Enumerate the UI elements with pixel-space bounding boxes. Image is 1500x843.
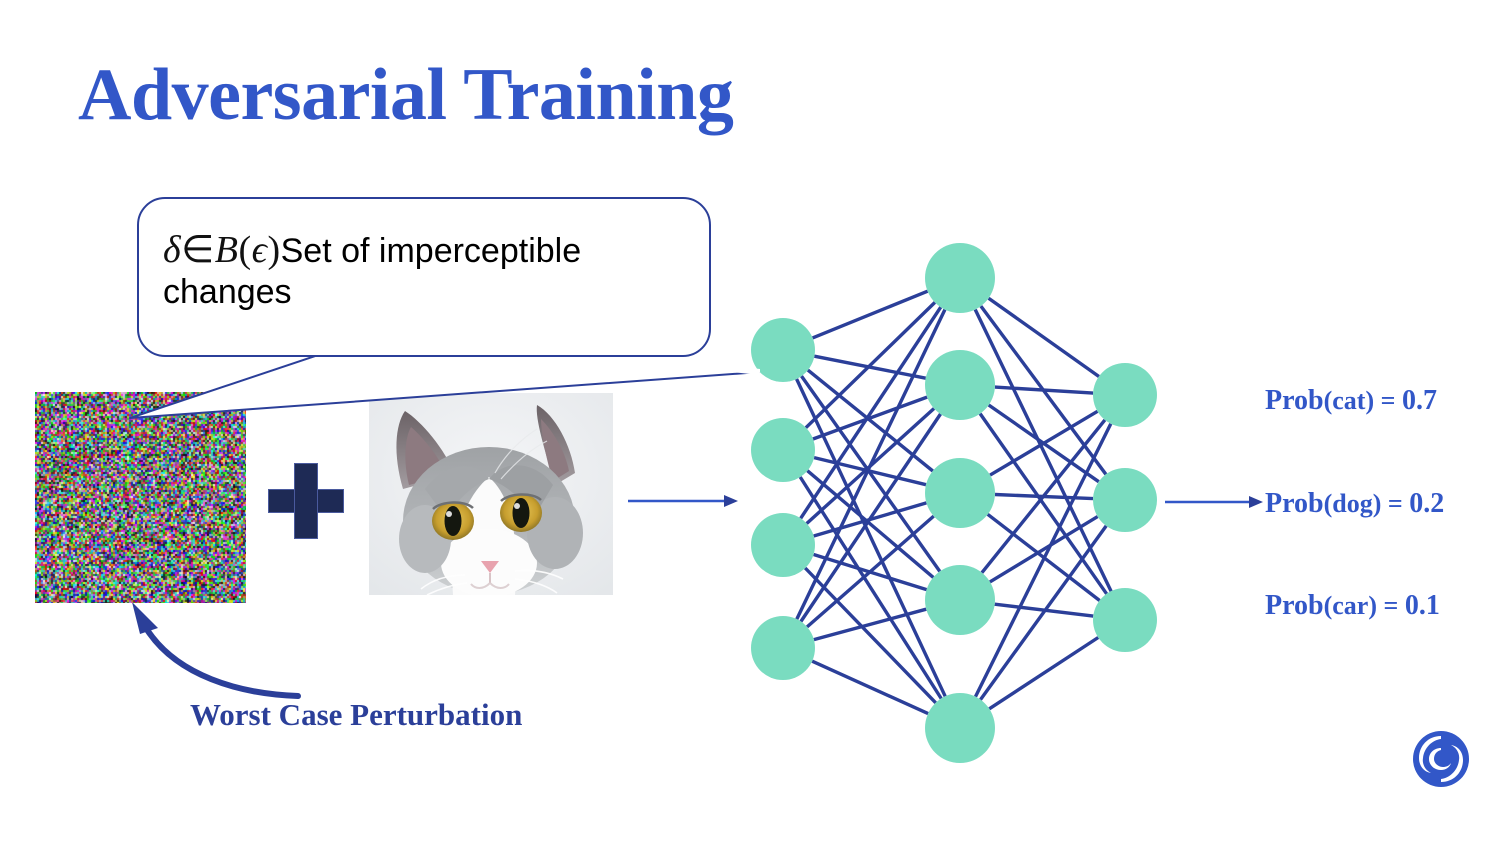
callout-bubble: δ∈B(ϵ)Set of imperceptible changes	[137, 197, 711, 357]
network-edge	[802, 376, 940, 571]
status-badge-prob-dog: Prob(dog) = 0.2	[1265, 488, 1444, 520]
network-edge	[797, 379, 946, 696]
input-layer-node-1	[751, 318, 815, 382]
input-layer-node-4	[751, 616, 815, 680]
output-layer-node-2	[1093, 468, 1157, 532]
prob-cat-word: Prob	[1265, 385, 1324, 416]
input-layer-node-2	[751, 418, 815, 482]
page-title: Adversarial Training	[78, 58, 733, 132]
prob-car-value: 0.1	[1405, 590, 1440, 621]
worst-case-curved-arrow	[120, 600, 340, 705]
hidden-layer-node-5	[925, 693, 995, 763]
prob-car-args: (car)	[1324, 591, 1377, 620]
prob-dog-value: 0.2	[1409, 488, 1444, 519]
network-edge	[812, 661, 928, 713]
output-layer-node-1	[1093, 363, 1157, 427]
network-edge	[976, 424, 1111, 697]
prob-car-word: Prob	[1265, 590, 1324, 621]
neural-network-diagram	[730, 230, 1180, 790]
plus-vertical-bar	[294, 463, 318, 539]
plus-symbol	[268, 463, 344, 539]
worst-case-label: Worst Case Perturbation	[190, 697, 522, 733]
slide-canvas: Adversarial Training δ∈B(ϵ)Set of imperc…	[0, 0, 1500, 843]
swirl-logo	[1412, 730, 1470, 788]
prob-car-eq: =	[1377, 591, 1405, 620]
input-to-network-arrow	[626, 486, 738, 516]
hidden-layer-node-4	[925, 565, 995, 635]
hidden-layer-node-3	[925, 458, 995, 528]
network-edge	[813, 291, 928, 338]
network-edge	[806, 302, 935, 427]
math-expression: δ∈B(ϵ)	[163, 231, 281, 271]
hidden-layer-node-1	[925, 243, 995, 313]
noise-perturbation-image	[35, 392, 246, 603]
hidden-layer-node-2	[925, 350, 995, 420]
prob-dog-args: (dog)	[1324, 489, 1382, 518]
network-to-output-arrow	[1163, 488, 1263, 516]
network-edge	[989, 638, 1098, 709]
callout-content: δ∈B(ϵ)Set of imperceptible changes	[163, 231, 695, 314]
prob-dog-word: Prob	[1265, 488, 1324, 519]
status-badge-prob-cat: Prob(cat) = 0.7	[1265, 385, 1437, 417]
prob-cat-value: 0.7	[1402, 385, 1437, 416]
status-badge-prob-car: Prob(car) = 0.1	[1265, 590, 1440, 622]
output-layer-node-3	[1093, 588, 1157, 652]
prob-cat-eq: =	[1374, 386, 1402, 415]
prob-dog-eq: =	[1381, 489, 1409, 518]
cat-image	[369, 393, 613, 595]
input-layer-node-3	[751, 513, 815, 577]
prob-cat-args: (cat)	[1324, 386, 1375, 415]
